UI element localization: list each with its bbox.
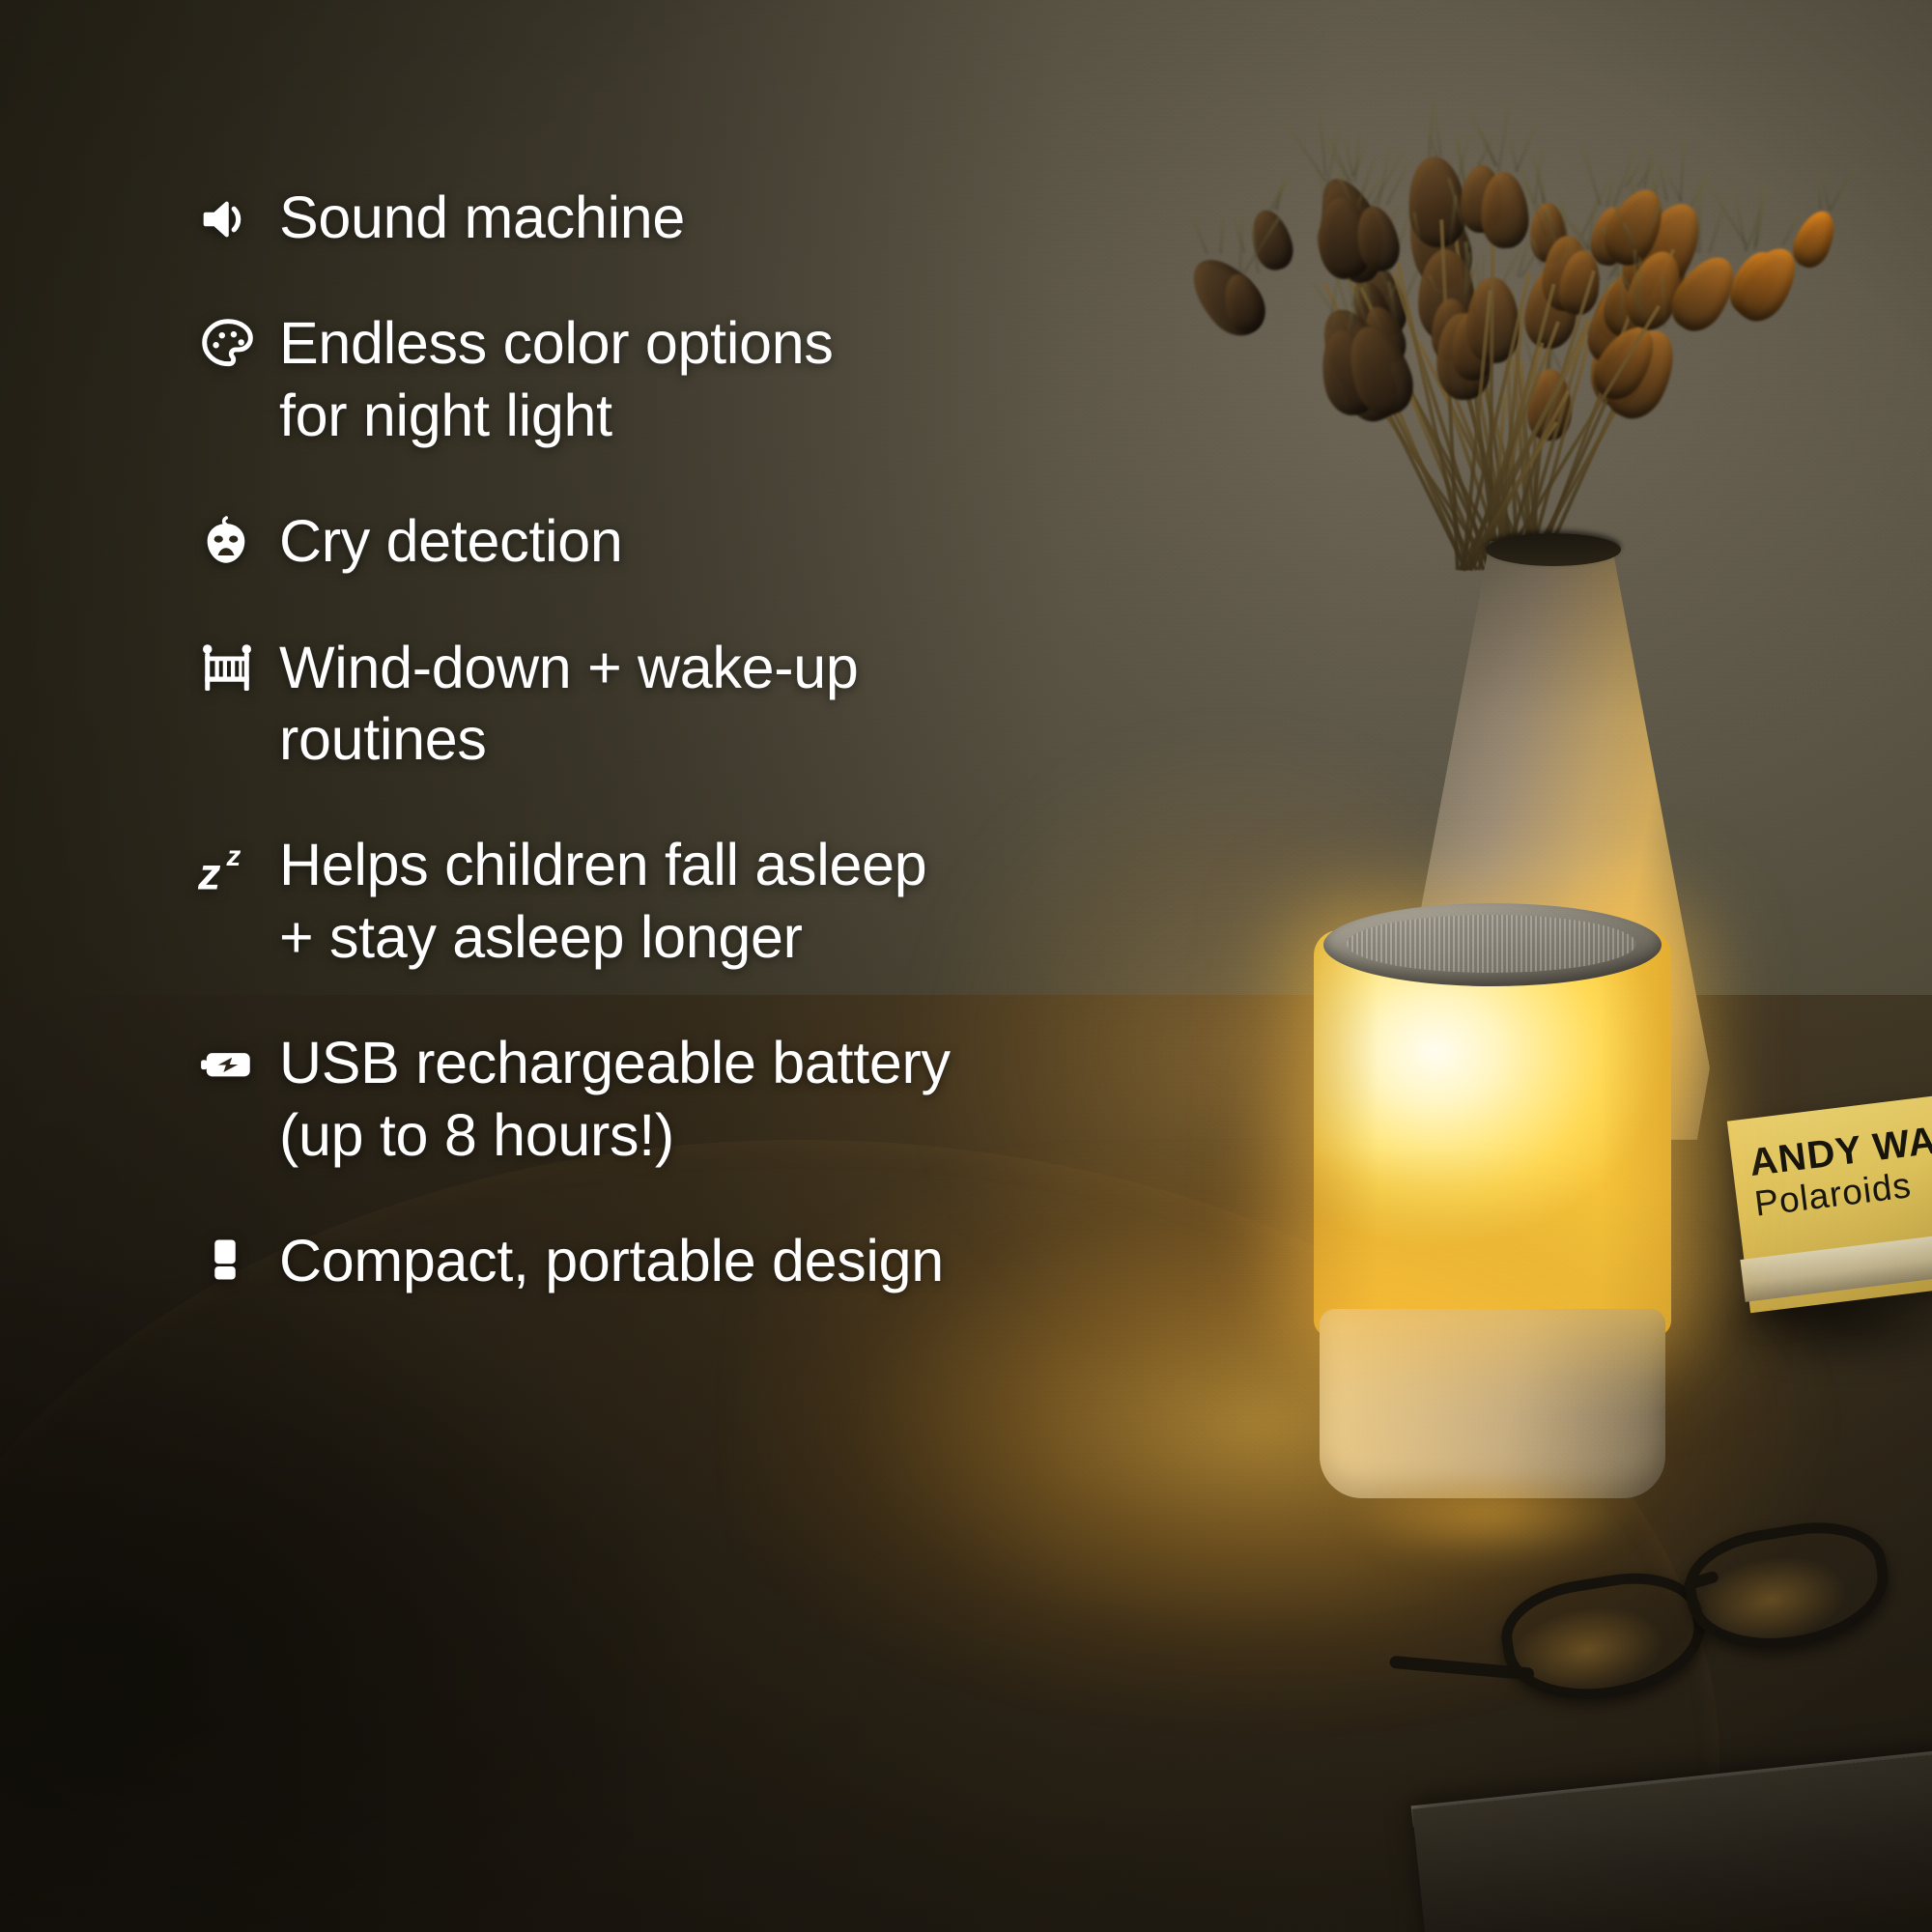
table-shadow bbox=[0, 1256, 1063, 1932]
feature-item-portable-design: Compact, portable design bbox=[198, 1225, 1241, 1296]
feature-list: Sound machine Endless color options for … bbox=[198, 182, 1241, 1350]
lamp-base-glow bbox=[1320, 1309, 1665, 1415]
seed-pod bbox=[1787, 206, 1843, 273]
feature-label: Cry detection bbox=[279, 505, 623, 577]
feature-label: Wind-down + wake-up routines bbox=[279, 632, 859, 776]
product-feature-card: ANDY WARHOL Polaroids bbox=[0, 0, 1932, 1932]
flower-frond bbox=[1275, 185, 1283, 211]
feature-item-sleep: z z Helps children fall asleep + stay as… bbox=[198, 829, 1241, 973]
flower-frond bbox=[1497, 103, 1510, 172]
speaker-icon bbox=[198, 182, 279, 249]
lamp-speaker-mesh bbox=[1347, 915, 1636, 973]
feature-item-color-options: Endless color options for night light bbox=[198, 307, 1241, 451]
portable-night-light bbox=[1314, 903, 1671, 1512]
svg-text:z: z bbox=[198, 849, 221, 895]
feature-label: Endless color options for night light bbox=[279, 307, 834, 451]
flower-frond bbox=[1817, 181, 1822, 210]
flower-frond bbox=[1581, 145, 1602, 207]
feature-item-routines: Wind-down + wake-up routines bbox=[198, 632, 1241, 776]
feature-item-sound-machine: Sound machine bbox=[198, 182, 1241, 253]
flower-frond bbox=[1385, 162, 1409, 206]
feature-item-cry-detection: Cry detection bbox=[198, 505, 1241, 577]
crying-baby-icon bbox=[198, 505, 279, 573]
sleep-zz-icon: z z bbox=[198, 829, 279, 896]
crib-icon bbox=[198, 632, 279, 699]
lamp-shade-shading bbox=[1314, 930, 1671, 1336]
feature-item-battery: USB rechargeable battery (up to 8 hours!… bbox=[198, 1027, 1241, 1171]
battery-charging-icon bbox=[198, 1027, 279, 1094]
feature-label: Sound machine bbox=[279, 182, 685, 253]
night-light-device-icon bbox=[198, 1225, 279, 1293]
palette-icon bbox=[198, 307, 279, 375]
feature-label: Helps children fall asleep + stay asleep… bbox=[279, 829, 926, 973]
feature-label: USB rechargeable battery (up to 8 hours!… bbox=[279, 1027, 951, 1171]
flower-frond bbox=[1698, 183, 1702, 253]
flower-frond bbox=[1679, 137, 1686, 201]
flower-frond bbox=[1509, 140, 1519, 172]
vase-rim bbox=[1486, 533, 1621, 566]
feature-label: Compact, portable design bbox=[279, 1225, 944, 1296]
svg-text:z: z bbox=[226, 840, 241, 872]
eyeglasses-left-lens bbox=[1494, 1562, 1714, 1713]
flower-frond bbox=[1830, 163, 1858, 211]
